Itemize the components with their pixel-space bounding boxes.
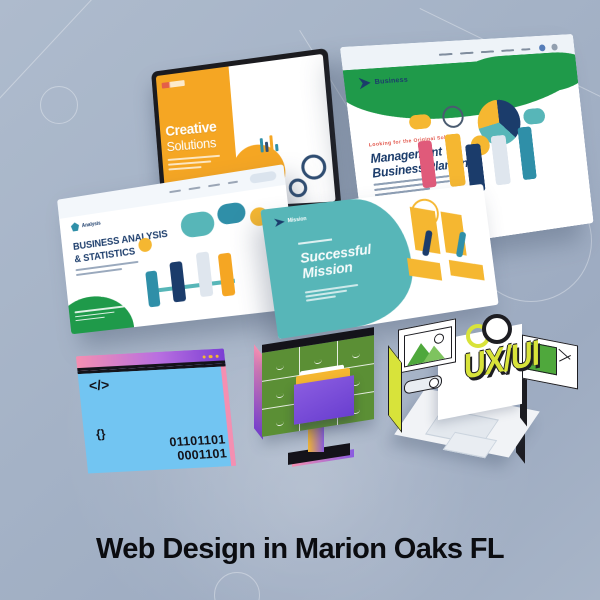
nav-item[interactable] <box>169 189 181 193</box>
brand-name: Mission <box>287 216 307 224</box>
illustration-chart <box>255 134 282 152</box>
illustration-bubble-2 <box>216 201 246 225</box>
image-placeholder-icon <box>404 326 452 367</box>
nav-item[interactable] <box>228 181 238 185</box>
cart-icon[interactable] <box>551 44 558 51</box>
illustration-bubble <box>408 114 431 130</box>
nav-item[interactable] <box>481 50 494 53</box>
illustration-person <box>169 261 186 302</box>
card-brand: Analysis <box>71 219 102 232</box>
bg-diagonal-line-1 <box>0 0 165 141</box>
illustration-bubble <box>180 210 216 239</box>
nav-item[interactable] <box>460 52 473 55</box>
mountain-icon-2 <box>423 344 445 363</box>
nav-item[interactable] <box>501 49 514 52</box>
code-tag-icon: </> <box>88 376 110 393</box>
card-title: BUSINESS ANALYSIS & STATISTICS <box>73 229 170 267</box>
nav-item[interactable] <box>439 53 453 56</box>
mission-card: Mission Successful Mission <box>260 184 498 339</box>
nav-item[interactable] <box>189 186 201 190</box>
illustration-person <box>145 270 160 307</box>
creative-title: Creative Solutions <box>165 120 218 154</box>
nav-item[interactable] <box>521 48 530 51</box>
nav-item[interactable] <box>208 183 220 187</box>
business-analysis-card: Analysis BUSINESS ANALYSIS & STATISTICS <box>57 164 300 334</box>
brand-name: Analysis <box>82 220 101 229</box>
drawer-handle[interactable] <box>276 393 284 398</box>
brand-mark-icon <box>359 77 372 89</box>
search-pill[interactable] <box>249 171 276 184</box>
bg-circle-topleft <box>40 86 78 124</box>
illustration-bubble-2 <box>523 108 546 125</box>
binary-text: 01101101 0001101 <box>169 432 228 463</box>
brand-mark-icon <box>71 222 80 232</box>
poster-canvas: Creative Solutions <box>0 0 600 600</box>
window-dots[interactable] <box>202 355 219 359</box>
illustration-person <box>218 253 236 297</box>
illustration-block <box>449 260 485 281</box>
drawer-handle[interactable] <box>314 359 322 364</box>
page-title: Web Design in Marion Oaks FL <box>0 533 600 566</box>
brand-name: Business <box>374 76 408 86</box>
filing-cabinet <box>250 338 390 470</box>
code-brace-icon: {} <box>95 427 106 441</box>
illustration-person <box>517 126 536 180</box>
drawer-handle[interactable] <box>352 353 360 358</box>
illustration-person <box>196 251 214 297</box>
binary-line-2: 0001101 <box>170 446 227 463</box>
drawer-handle[interactable] <box>276 421 284 426</box>
code-browser-window: </> {} 01101101 0001101 <box>76 348 236 473</box>
brand-mark-icon <box>274 218 285 227</box>
cabinet-stand <box>308 426 324 452</box>
drawer-handle[interactable] <box>276 365 284 370</box>
uxui-laptop: UX/UI <box>386 318 582 478</box>
search-icon[interactable] <box>539 44 546 51</box>
